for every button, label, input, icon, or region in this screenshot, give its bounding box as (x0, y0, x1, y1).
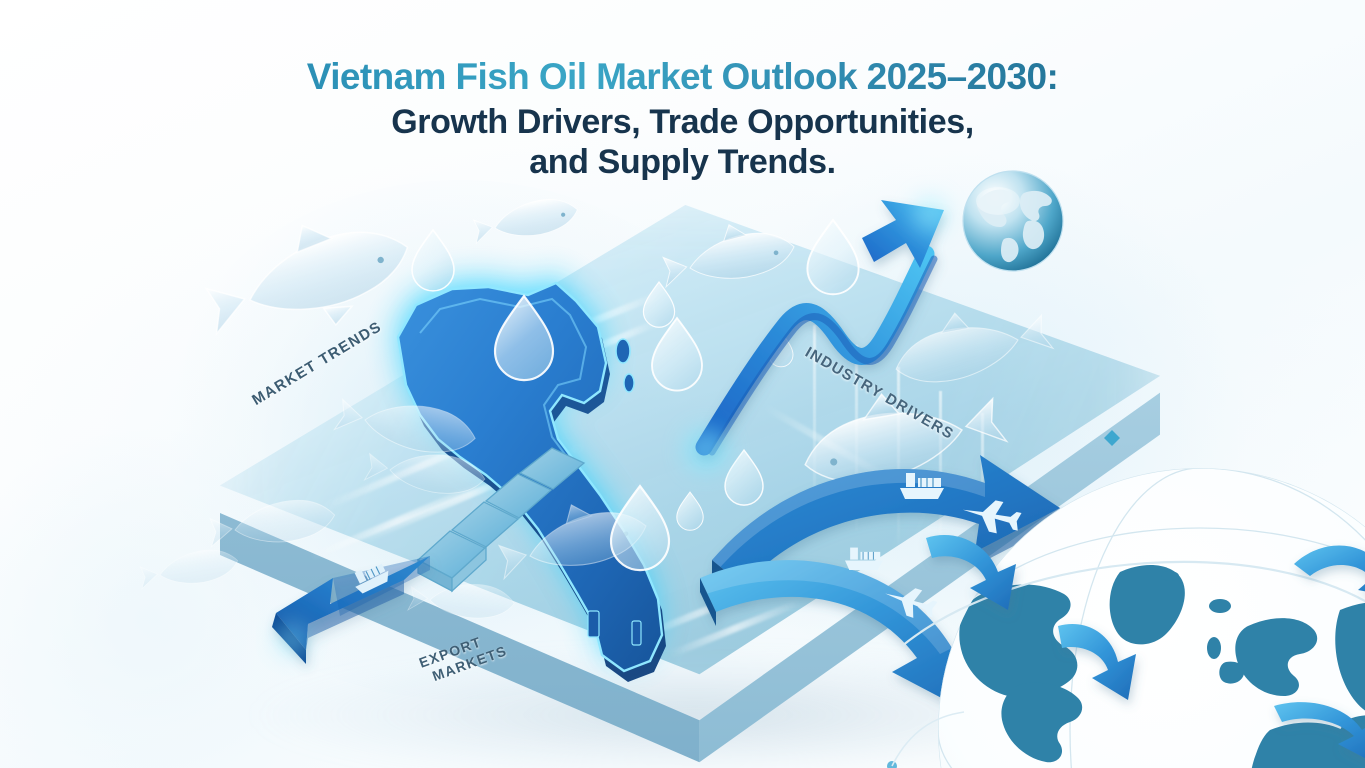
water-wave (322, 422, 518, 510)
orbit-node (1104, 430, 1120, 446)
label-export-markets-line2: MARKETS (430, 642, 509, 685)
label-market-trends: MARKET TRENDS (249, 318, 385, 409)
orbit-tail (892, 712, 964, 766)
label-industry-drivers: INDUSTRY DRIVERS (802, 344, 957, 443)
cargo-ship-icon (845, 548, 883, 570)
vietnam-map-glow (360, 235, 760, 695)
globe-export-arrows (926, 535, 1365, 764)
export-arrow-small-right (985, 591, 1078, 630)
water-droplet-icon (769, 332, 793, 367)
platform-ground-shadow (255, 650, 1135, 768)
airplane-icon (881, 580, 940, 624)
cargo-ship-icon (900, 473, 944, 499)
vietnam-map-group (380, 255, 740, 675)
water-droplet-icon (725, 450, 763, 505)
globe-continents (959, 565, 1365, 768)
water-wave (630, 570, 800, 644)
chart-bar-line (939, 391, 942, 557)
globe-orbit-arc (902, 430, 1365, 646)
platform-sheen (220, 205, 1160, 715)
cargo-ship-icon (350, 559, 393, 595)
page-title: Vietnam Fish Oil Market Outlook 2025–203… (0, 56, 1365, 183)
label-export-markets: EXPORT MARKETS (417, 626, 510, 688)
chart-bar-line (897, 367, 900, 545)
chart-bar-line (813, 325, 816, 515)
water-droplet-icon (495, 296, 553, 380)
fish-icon (208, 496, 337, 549)
water-wave (565, 319, 660, 363)
fish-icon (658, 215, 797, 290)
fish-icon (364, 445, 487, 499)
water-wave (538, 291, 661, 346)
water-droplet-icon (412, 230, 454, 291)
fish-icon (334, 389, 480, 462)
label-export-markets-line1: EXPORT (417, 626, 504, 672)
platform-top-face (220, 205, 1160, 715)
water-wave (309, 480, 487, 561)
isometric-platform (195, 195, 1175, 755)
globe-large (870, 400, 1365, 768)
export-arrow-left (272, 556, 430, 664)
title-line-2: Growth Drivers, Trade Opportunities, (0, 103, 1365, 142)
water-droplet-icon (807, 220, 858, 294)
fish-icon (471, 194, 581, 245)
fish-icon (492, 491, 651, 582)
background-glow-right (690, 150, 1250, 710)
title-line-1: Vietnam Fish Oil Market Outlook 2025–203… (0, 56, 1365, 102)
platform-side-left (220, 205, 1160, 765)
fish-icon (408, 579, 516, 622)
airplane-icon (960, 494, 1023, 537)
fish-icon (138, 546, 240, 591)
orbit-dot (887, 761, 897, 768)
export-arrow-right-upper (712, 455, 1060, 600)
background-glow-bottom-left (0, 430, 360, 768)
water-droplet-icon (677, 492, 703, 530)
fish-icon (793, 366, 1013, 516)
water-wave (763, 404, 896, 485)
water-wave (669, 599, 801, 658)
container-band (418, 448, 584, 591)
export-arrow-right-lower (700, 560, 975, 714)
chart-bar-line (981, 413, 984, 563)
title-line-3: and Supply Trends. (0, 143, 1365, 182)
globe-graticule (938, 468, 1365, 768)
fish-icon (886, 290, 1054, 395)
background-glow-left (150, 180, 770, 700)
water-wave (354, 442, 587, 546)
platform-side-right (220, 205, 1160, 765)
fish-icon (194, 199, 422, 357)
vietnam-map-shape (380, 255, 740, 675)
water-droplet-icon (652, 318, 702, 391)
water-droplet-icon (643, 282, 674, 327)
chart-bar-line (855, 345, 858, 531)
water-droplet-icon (611, 486, 669, 570)
infographic-banner: MARKET TRENDS INDUSTRY DRIVERS EXPORT MA… (0, 0, 1365, 768)
